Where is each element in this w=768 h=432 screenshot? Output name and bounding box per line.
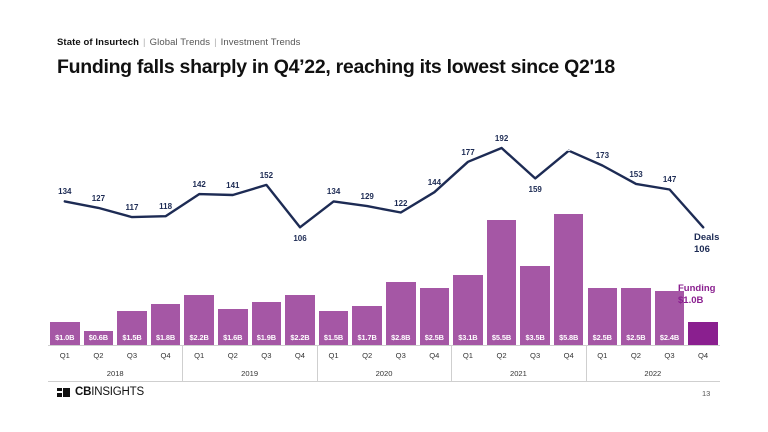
deals-annotation-label: Deals	[694, 232, 719, 244]
x-axis-divider	[182, 346, 183, 382]
x-axis-divider	[451, 346, 452, 382]
bar-cell: $5.5B	[485, 110, 519, 345]
x-axis-year-tick: 2021	[451, 364, 585, 382]
bar-cell: $1.6B	[216, 110, 250, 345]
bar[interactable]: $2.5B	[588, 288, 618, 345]
x-axis-quarter-tick: Q1	[317, 346, 351, 364]
x-axis-quarter-tick: Q3	[518, 346, 552, 364]
logo-text-rest: INSIGHTS	[91, 386, 144, 398]
x-axis-quarter-tick: Q1	[48, 346, 82, 364]
x-axis-quarter-tick: Q4	[418, 346, 452, 364]
bar-value-label: $1.8B	[151, 333, 181, 342]
breadcrumb-separator-1: |	[139, 37, 150, 48]
breadcrumb-report-name: State of Insurtech	[57, 37, 139, 48]
bar-value-label: $2.2B	[184, 333, 214, 342]
bar-value-label: $2.5B	[420, 333, 450, 342]
bar[interactable]: $3.5B	[520, 266, 550, 345]
deals-point-label: 153	[629, 170, 642, 179]
x-axis-quarter-tick: Q2	[350, 346, 384, 364]
bar[interactable]: $1.8B	[151, 304, 181, 345]
deals-point-label: 117	[126, 203, 139, 212]
x-axis-quarter-tick: Q3	[250, 346, 284, 364]
bar-value-label: $2.5B	[588, 333, 618, 342]
bar[interactable]: $5.8B	[554, 214, 584, 345]
x-axis-quarter-tick: Q2	[216, 346, 250, 364]
x-axis-quarter-tick: Q3	[384, 346, 418, 364]
bar-cell: $3.5B	[518, 110, 552, 345]
x-axis-quarter-tick: Q1	[182, 346, 216, 364]
cbinsights-logo: CBINSIGHTS	[57, 386, 144, 398]
bar-cell: $2.5B	[418, 110, 452, 345]
bar[interactable]: $2.2B	[285, 295, 315, 345]
bar[interactable]: $3.1B	[453, 275, 483, 345]
deals-point-label: 118	[159, 202, 172, 211]
bar-cell: $2.4B	[653, 110, 687, 345]
breadcrumb: State of Insurtech|Global Trends|Investm…	[57, 37, 301, 48]
deals-point-label: 142	[193, 180, 206, 189]
deals-point-label: 134	[327, 187, 340, 196]
deals-point-label: 106	[293, 234, 306, 243]
deals-point-label: 147	[663, 175, 676, 184]
x-axis-year-tick: 2020	[317, 364, 451, 382]
x-axis-year-tick: 2018	[48, 364, 182, 382]
deals-annotation-value: 106	[694, 244, 719, 256]
bar-value-label: $1.6B	[218, 333, 248, 342]
bar-cell: $1.7B	[350, 110, 384, 345]
bar[interactable]: $2.8B	[386, 282, 416, 345]
bar[interactable]: $2.5B	[420, 288, 450, 345]
breadcrumb-separator-2: |	[210, 37, 221, 48]
deals-point-label: 122	[394, 199, 407, 208]
deals-annotation: Deals 106	[694, 232, 719, 256]
bar-cell: $2.2B	[283, 110, 317, 345]
logo-text-bold: CB	[75, 386, 91, 398]
breadcrumb-item-investment-trends: Investment Trends	[221, 37, 301, 48]
x-axis-quarter-tick: Q4	[283, 346, 317, 364]
deals-point-label: 177	[461, 148, 474, 157]
x-axis-quarter-tick: Q1	[586, 346, 620, 364]
x-axis-quarter-row: Q1Q2Q3Q4Q1Q2Q3Q4Q1Q2Q3Q4Q1Q2Q3Q4Q1Q2Q3Q4	[48, 346, 720, 364]
deals-point-label: 141	[226, 181, 239, 190]
bar-value-label: $5.5B	[487, 333, 517, 342]
bar-value-label: $3.1B	[453, 333, 483, 342]
bar-highlighted[interactable]: $1.0B	[688, 322, 718, 345]
bar-cell: $1.5B	[115, 110, 149, 345]
bar-cell: $1.0B	[48, 110, 82, 345]
bar-cell: $1.5B	[317, 110, 351, 345]
bar-value-label: $2.8B	[386, 333, 416, 342]
bar[interactable]: $5.5B	[487, 220, 517, 345]
bar[interactable]: $2.5B	[621, 288, 651, 345]
deals-point-label: 159	[529, 185, 542, 194]
page-number: 13	[702, 389, 710, 398]
bar[interactable]: $1.0B	[50, 322, 80, 345]
page-title: Funding falls sharply in Q4’22, reaching…	[57, 56, 615, 79]
x-axis-quarter-tick: Q3	[115, 346, 149, 364]
bar-value-label: $1.7B	[352, 333, 382, 342]
funding-annotation-label: Funding	[678, 283, 715, 295]
bar-value-label: $5.8B	[554, 333, 584, 342]
x-axis-baseline	[48, 381, 720, 382]
x-axis-quarter-tick: Q2	[485, 346, 519, 364]
bar[interactable]: $2.2B	[184, 295, 214, 345]
bar-value-label: $0.6B	[84, 333, 114, 342]
bar[interactable]: $1.7B	[352, 306, 382, 345]
x-axis-year-row: 20182019202020212022	[48, 364, 720, 382]
bar-cell: $1.9B	[250, 110, 284, 345]
bar-cell: $3.1B	[451, 110, 485, 345]
bar[interactable]: $1.5B	[319, 311, 349, 345]
bar-value-label: $1.9B	[252, 333, 282, 342]
deals-point-label: 144	[428, 178, 441, 187]
bar-value-label: $2.2B	[285, 333, 315, 342]
x-axis-quarter-tick: Q2	[619, 346, 653, 364]
x-axis-year-tick: 2022	[586, 364, 720, 382]
x-axis-quarter-tick: Q3	[653, 346, 687, 364]
x-axis-quarter-tick: Q1	[451, 346, 485, 364]
deals-point-label: 192	[495, 134, 508, 143]
bar-cell: $1.0B	[686, 110, 720, 345]
bar-value-label: $1.5B	[319, 333, 349, 342]
x-axis-year-tick: 2019	[182, 364, 316, 382]
bar-value-label: $1.0B	[50, 333, 80, 342]
deals-point-label: 152	[260, 171, 273, 180]
bar[interactable]: $1.9B	[252, 302, 282, 345]
funding-annotation: Funding $1.0B	[678, 283, 715, 307]
bar[interactable]: $1.5B	[117, 311, 147, 345]
chart-plot-area: $1.0B$0.6B$1.5B$1.8B$2.2B$1.6B$1.9B$2.2B…	[48, 110, 720, 345]
deals-point-label: 129	[361, 192, 374, 201]
cbinsights-logo-text: CBINSIGHTS	[75, 386, 144, 398]
bar-value-label: $1.5B	[117, 333, 147, 342]
bar-value-label: $2.4B	[655, 333, 685, 342]
slide-canvas: State of Insurtech|Global Trends|Investm…	[0, 0, 768, 432]
bar[interactable]: $0.6B	[84, 331, 114, 345]
bar-cell: $2.5B	[619, 110, 653, 345]
bar-value-label: $2.5B	[621, 333, 651, 342]
funding-annotation-value: $1.0B	[678, 295, 715, 307]
bar-cell: $0.6B	[82, 110, 116, 345]
bar-cell: $2.5B	[586, 110, 620, 345]
bar-cell: $2.2B	[182, 110, 216, 345]
deals-point-label: 134	[58, 187, 71, 196]
deals-point-label: 173	[596, 151, 609, 160]
bar-value-label: $3.5B	[520, 333, 550, 342]
x-axis-quarter-tick: Q2	[82, 346, 116, 364]
breadcrumb-item-global-trends: Global Trends	[150, 37, 210, 48]
x-axis-divider	[586, 346, 587, 382]
x-axis-divider	[317, 346, 318, 382]
x-axis: Q1Q2Q3Q4Q1Q2Q3Q4Q1Q2Q3Q4Q1Q2Q3Q4Q1Q2Q3Q4…	[48, 345, 720, 382]
bar-cell: $1.8B	[149, 110, 183, 345]
x-axis-quarter-tick: Q4	[149, 346, 183, 364]
x-axis-quarter-tick: Q4	[552, 346, 586, 364]
bar-cell: $2.8B	[384, 110, 418, 345]
deals-point-label: 127	[92, 194, 105, 203]
x-axis-quarter-tick: Q4	[686, 346, 720, 364]
deals-point-label: 189	[562, 144, 575, 153]
bar[interactable]: $1.6B	[218, 309, 248, 345]
cbinsights-logo-mark-icon	[57, 388, 70, 397]
funding-bar-series: $1.0B$0.6B$1.5B$1.8B$2.2B$1.6B$1.9B$2.2B…	[48, 110, 720, 345]
